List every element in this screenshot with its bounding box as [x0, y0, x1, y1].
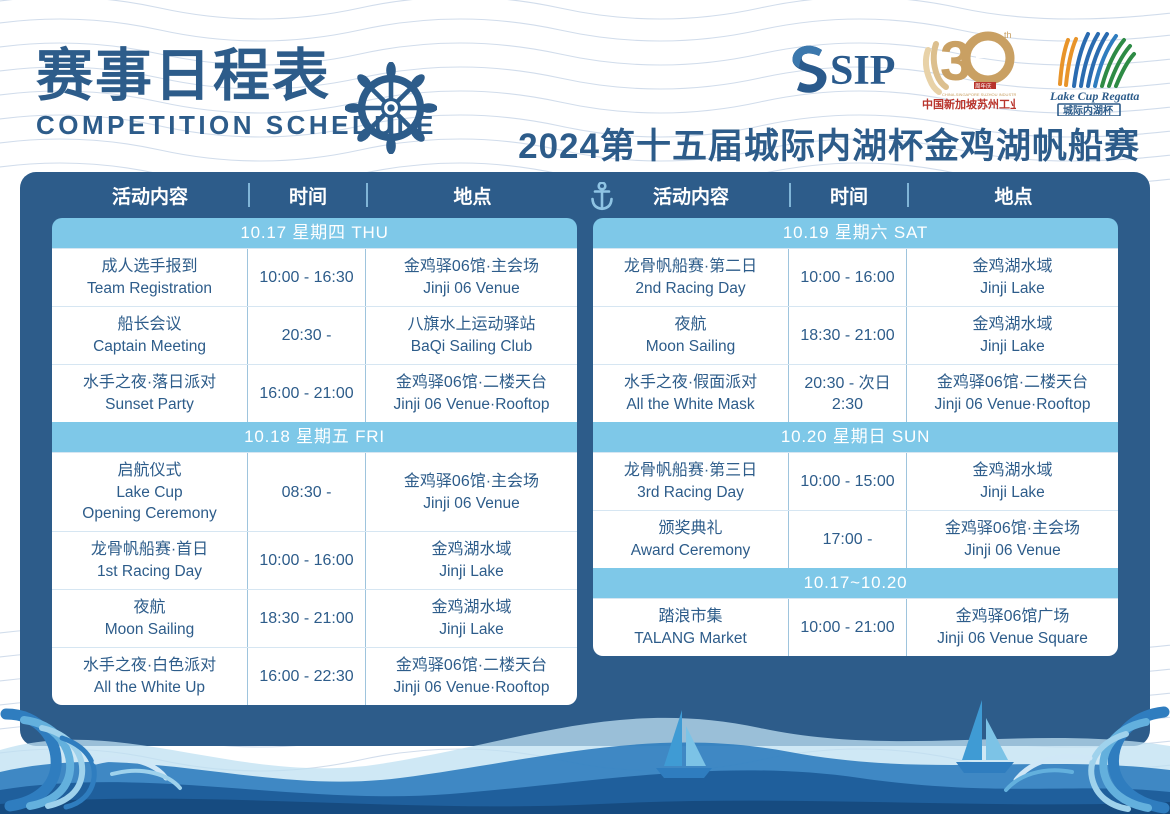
- activity-en: 1st Racing Day: [97, 561, 202, 582]
- time-text: 18:30 - 21:00: [259, 608, 353, 629]
- cell-time: 17:00 -: [789, 511, 907, 568]
- cell-activity: 水手之夜·落日派对Sunset Party: [52, 365, 248, 422]
- poster-root: 赛事日程表 COMPETITION SCHEDULE: [0, 0, 1170, 814]
- place-cn: 金鸡驿06馆广场: [956, 606, 1070, 628]
- place-en: Jinji 06 Venue: [423, 493, 520, 514]
- place-en: Jinji 06 Venue·Rooftop: [935, 394, 1091, 415]
- cell-time: 20:30 - 次日2:30: [789, 365, 907, 422]
- table-row: 夜航Moon Sailing18:30 - 21:00金鸡湖水域Jinji La…: [593, 306, 1118, 364]
- cell-activity: 船长会议Captain Meeting: [52, 307, 248, 364]
- cell-place: 金鸡湖水域Jinji Lake: [907, 453, 1118, 510]
- cell-time: 18:30 - 21:00: [248, 590, 366, 647]
- time-text: 08:30 -: [282, 482, 332, 503]
- cell-activity: 夜航Moon Sailing: [593, 307, 789, 364]
- activity-cn: 龙骨帆船赛·第二日: [624, 256, 757, 278]
- place-cn: 金鸡湖水域: [972, 314, 1052, 336]
- col-header-time-left: 时间: [250, 182, 366, 209]
- schedule-table-right: 10.19 星期六 SAT龙骨帆船赛·第二日2nd Racing Day10:0…: [593, 218, 1118, 656]
- cell-time: 10:00 - 16:00: [248, 532, 366, 589]
- day-band: 10.17~10.20: [593, 568, 1118, 598]
- schedule-table-left: 10.17 星期四 THU成人选手报到Team Registration10:0…: [52, 218, 577, 705]
- time-text: 17:00 -: [823, 529, 873, 550]
- cell-time: 08:30 -: [248, 453, 366, 531]
- cell-time: 16:00 - 21:00: [248, 365, 366, 422]
- cell-place: 金鸡驿06馆·二楼天台Jinji 06 Venue·Rooftop: [907, 365, 1118, 422]
- ships-wheel-icon: [345, 62, 437, 154]
- header-separator: [366, 183, 368, 207]
- activity-cn: 启航仪式: [117, 460, 181, 482]
- time-text: 10:00 - 21:00: [800, 617, 894, 638]
- cell-time: 20:30 -: [248, 307, 366, 364]
- sip-logo: SIP: [788, 22, 900, 108]
- column-headers-right: 活动内容 时间 地点: [593, 172, 1118, 218]
- place-cn: 金鸡湖水域: [431, 597, 511, 619]
- table-row: 踏浪市集TALANG Market10:00 - 21:00金鸡驿06馆广场Ji…: [593, 598, 1118, 656]
- place-cn: 金鸡驿06馆·二楼天台: [937, 372, 1088, 394]
- activity-cn: 颁奖典礼: [658, 518, 722, 540]
- svg-text:Lake Cup Regatta: Lake Cup Regatta: [1049, 89, 1139, 103]
- cell-activity: 龙骨帆船赛·第三日3rd Racing Day: [593, 453, 789, 510]
- time-text: 20:30 -: [282, 325, 332, 346]
- header-separator: [907, 183, 909, 207]
- cell-activity: 龙骨帆船赛·第二日2nd Racing Day: [593, 249, 789, 306]
- table-row: 夜航Moon Sailing18:30 - 21:00金鸡湖水域Jinji La…: [52, 589, 577, 647]
- col-header-place-left: 地点: [368, 182, 577, 209]
- activity-en: Award Ceremony: [631, 540, 750, 561]
- activity-en: Opening Ceremony: [82, 503, 216, 524]
- table-row: 龙骨帆船赛·首日1st Racing Day10:00 - 16:00金鸡湖水域…: [52, 531, 577, 589]
- svg-text:城际内湖杯: 城际内湖杯: [1063, 104, 1114, 116]
- col-header-activity-left: 活动内容: [52, 182, 248, 209]
- sip-30th-anniversary-logo: 3 th 周年庆 CHINA-SINGAPORE SUZHOU INDUSTRI…: [918, 22, 1016, 114]
- place-cn: 金鸡驿06馆·主会场: [404, 471, 539, 493]
- place-en: Jinji Lake: [439, 561, 504, 582]
- col-header-time-right: 时间: [791, 182, 907, 209]
- place-cn: 金鸡湖水域: [972, 460, 1052, 482]
- place-en: Jinji Lake: [980, 278, 1045, 299]
- cell-time: 10:00 - 16:30: [248, 249, 366, 306]
- day-band: 10.18 星期五 FRI: [52, 422, 577, 452]
- table-row: 水手之夜·假面派对All the White Mask20:30 - 次日2:3…: [593, 364, 1118, 422]
- cell-place: 金鸡湖水域Jinji Lake: [366, 532, 577, 589]
- activity-cn: 踏浪市集: [658, 606, 722, 628]
- place-cn: 金鸡湖水域: [972, 256, 1052, 278]
- time-text: 18:30 - 21:00: [800, 325, 894, 346]
- activity-en: Moon Sailing: [105, 619, 195, 640]
- place-cn: 金鸡驿06馆·二楼天台: [396, 372, 547, 394]
- event-subtitle: 2024第十五届城际内湖杯金鸡湖帆船赛: [518, 118, 1140, 169]
- svg-text:th: th: [1004, 30, 1012, 40]
- cell-time: 10:00 - 16:00: [789, 249, 907, 306]
- header-separator: [789, 183, 791, 207]
- activity-cn: 成人选手报到: [101, 256, 197, 278]
- place-en: Jinji 06 Venue Square: [937, 628, 1088, 649]
- activity-en: All the White Mask: [626, 394, 754, 415]
- cell-activity: 龙骨帆船赛·首日1st Racing Day: [52, 532, 248, 589]
- bottom-wave-decoration: [0, 654, 1170, 814]
- cell-time: 10:00 - 15:00: [789, 453, 907, 510]
- time-text: 10:00 - 16:30: [259, 267, 353, 288]
- place-en: Jinji 06 Venue: [964, 540, 1061, 561]
- place-cn: 八旗水上运动驿站: [407, 314, 535, 336]
- activity-en: Team Registration: [87, 278, 212, 299]
- day-band: 10.19 星期六 SAT: [593, 218, 1118, 248]
- cell-time: 18:30 - 21:00: [789, 307, 907, 364]
- cell-place: 金鸡湖水域Jinji Lake: [366, 590, 577, 647]
- activity-cn: 龙骨帆船赛·首日: [91, 539, 208, 561]
- place-en: Jinji Lake: [980, 336, 1045, 357]
- table-row: 成人选手报到Team Registration10:00 - 16:30金鸡驿0…: [52, 248, 577, 306]
- place-en: Jinji Lake: [439, 619, 504, 640]
- place-cn: 金鸡驿06馆·主会场: [404, 256, 539, 278]
- time-text: 10:00 - 16:00: [259, 550, 353, 571]
- day-band: 10.20 星期日 SUN: [593, 422, 1118, 452]
- activity-cn: 夜航: [674, 314, 706, 336]
- cell-activity: 颁奖典礼Award Ceremony: [593, 511, 789, 568]
- cell-place: 金鸡驿06馆·主会场Jinji 06 Venue: [366, 453, 577, 531]
- table-row: 龙骨帆船赛·第二日2nd Racing Day10:00 - 16:00金鸡湖水…: [593, 248, 1118, 306]
- activity-cn: 水手之夜·落日派对: [83, 372, 216, 394]
- activity-cn: 水手之夜·假面派对: [624, 372, 757, 394]
- cell-activity: 踏浪市集TALANG Market: [593, 599, 789, 656]
- activity-en: Lake Cup: [116, 482, 182, 503]
- place-cn: 金鸡湖水域: [431, 539, 511, 561]
- place-en: Jinji 06 Venue: [423, 278, 520, 299]
- table-row: 启航仪式Lake CupOpening Ceremony08:30 -金鸡驿06…: [52, 452, 577, 531]
- table-row: 颁奖典礼Award Ceremony17:00 -金鸡驿06馆·主会场Jinji…: [593, 510, 1118, 568]
- svg-text:周年庆: 周年庆: [975, 82, 992, 90]
- column-headers-left: 活动内容 时间 地点: [52, 172, 577, 218]
- table-row: 龙骨帆船赛·第三日3rd Racing Day10:00 - 15:00金鸡湖水…: [593, 452, 1118, 510]
- activity-cn: 夜航: [133, 597, 165, 619]
- svg-text:SIP: SIP: [830, 48, 895, 94]
- cell-activity: 启航仪式Lake CupOpening Ceremony: [52, 453, 248, 531]
- table-row: 船长会议Captain Meeting20:30 -八旗水上运动驿站BaQi S…: [52, 306, 577, 364]
- cell-activity: 成人选手报到Team Registration: [52, 249, 248, 306]
- poster-header: 赛事日程表 COMPETITION SCHEDULE: [0, 0, 1170, 172]
- cell-place: 金鸡湖水域Jinji Lake: [907, 307, 1118, 364]
- day-band: 10.17 星期四 THU: [52, 218, 577, 248]
- activity-en: Captain Meeting: [93, 336, 206, 357]
- sponsor-logos: SIP 3 th 周年庆 CH: [788, 22, 1142, 116]
- sailboat-icon: [956, 700, 1014, 773]
- activity-cn: 船长会议: [117, 314, 181, 336]
- place-en: Jinji Lake: [980, 482, 1045, 503]
- cell-place: 金鸡驿06馆·主会场Jinji 06 Venue: [907, 511, 1118, 568]
- activity-en: Moon Sailing: [646, 336, 736, 357]
- time-text: 16:00 - 21:00: [259, 383, 353, 404]
- activity-en: TALANG Market: [634, 628, 747, 649]
- time-text: 10:00 - 15:00: [800, 471, 894, 492]
- cell-place: 八旗水上运动驿站BaQi Sailing Club: [366, 307, 577, 364]
- cell-place: 金鸡驿06馆·二楼天台Jinji 06 Venue·Rooftop: [366, 365, 577, 422]
- time-text: 20:30 - 次日2:30: [793, 373, 902, 415]
- table-row: 水手之夜·落日派对Sunset Party16:00 - 21:00金鸡驿06馆…: [52, 364, 577, 422]
- cell-place: 金鸡驿06馆·主会场Jinji 06 Venue: [366, 249, 577, 306]
- svg-text:中国新加坡苏州工业园区: 中国新加坡苏州工业园区: [922, 97, 1016, 111]
- activity-en: Sunset Party: [105, 394, 194, 415]
- time-text: 10:00 - 16:00: [800, 267, 894, 288]
- cell-time: 10:00 - 21:00: [789, 599, 907, 656]
- place-en: BaQi Sailing Club: [411, 336, 532, 357]
- place-cn: 金鸡驿06馆·主会场: [945, 518, 1080, 540]
- cell-activity: 水手之夜·假面派对All the White Mask: [593, 365, 789, 422]
- svg-text:CHINA-SINGAPORE SUZHOU INDUSTR: CHINA-SINGAPORE SUZHOU INDUSTRIAL PARK: [942, 92, 1016, 97]
- cell-activity: 夜航Moon Sailing: [52, 590, 248, 647]
- col-header-place-right: 地点: [909, 182, 1118, 209]
- header-separator: [248, 183, 250, 207]
- activity-en: 3rd Racing Day: [637, 482, 744, 503]
- lake-cup-regatta-logo: Lake Cup Regatta 城际内湖杯: [1034, 22, 1142, 116]
- cell-place: 金鸡湖水域Jinji Lake: [907, 249, 1118, 306]
- col-header-activity-right: 活动内容: [593, 182, 789, 209]
- activity-cn: 龙骨帆船赛·第三日: [624, 460, 757, 482]
- place-en: Jinji 06 Venue·Rooftop: [394, 394, 550, 415]
- cell-place: 金鸡驿06馆广场Jinji 06 Venue Square: [907, 599, 1118, 656]
- activity-en: 2nd Racing Day: [635, 278, 745, 299]
